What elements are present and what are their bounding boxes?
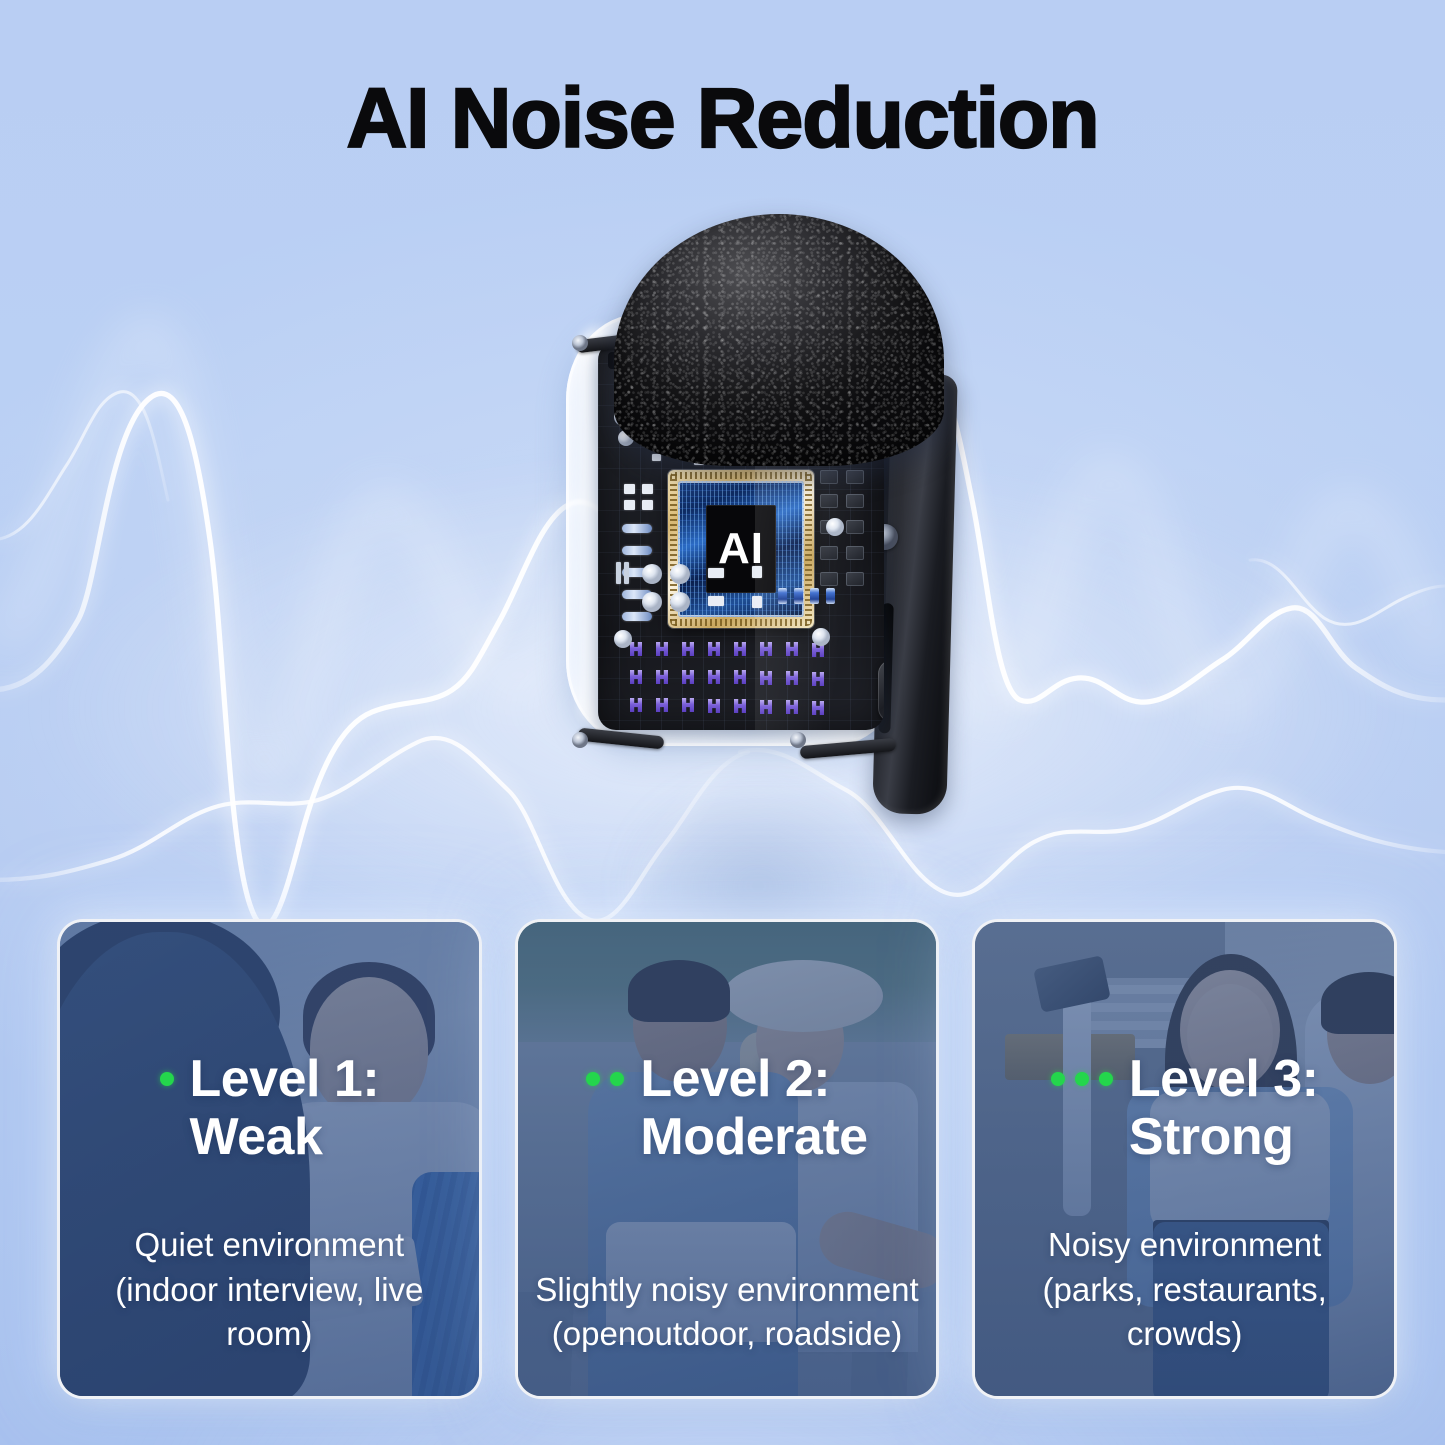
level-card-2[interactable]: Level 2: Moderate Slightly noisy environ… (515, 919, 940, 1399)
caption-line1: Noisy environment (1048, 1226, 1321, 1263)
level-card-caption-3: Noisy environment (parks, restaurants, c… (975, 1223, 1394, 1396)
level-indicator-dots-2 (586, 1050, 624, 1086)
noise-level-cards: Level 1: Weak Quiet environment (indoor … (57, 919, 1397, 1399)
caption-line2: (parks, restaurants, crowds) (989, 1268, 1380, 1356)
level-card-1[interactable]: Level 1: Weak Quiet environment (indoor … (57, 919, 482, 1399)
level-indicator-dots-3 (1051, 1050, 1113, 1086)
level-title-line2: Weak (190, 1108, 323, 1166)
microphone-product-image: AI (528, 176, 1014, 944)
level-card-title-1: Level 1: Weak (190, 1050, 380, 1166)
level-title-line1: Level 3: (1129, 1050, 1319, 1108)
level-card-3[interactable]: Level 3: Strong Noisy environment (parks… (972, 919, 1397, 1399)
caption-line2: (indoor interview, live room) (74, 1268, 465, 1356)
caption-line1: Slightly noisy environment (535, 1271, 918, 1308)
caption-line2: (openoutdoor, roadside) (532, 1312, 923, 1356)
caption-line1: Quiet environment (135, 1226, 405, 1263)
page-title: AI Noise Reduction (0, 76, 1445, 160)
standoff-cap-bottom-right (790, 732, 806, 748)
level-title-line1: Level 1: (190, 1050, 380, 1108)
standoff-cap-bottom-left (572, 732, 588, 748)
level-card-title-3: Level 3: Strong (1129, 1050, 1319, 1166)
level-title-line2: Moderate (640, 1108, 867, 1166)
level-card-caption-2: Slightly noisy environment (openoutdoor,… (518, 1268, 937, 1396)
level-title-line1: Level 2: (640, 1050, 830, 1108)
foam-texture (614, 214, 944, 466)
level-title-line2: Strong (1129, 1108, 1294, 1166)
foam-windscreen (614, 214, 944, 466)
level-indicator-dots-1 (160, 1050, 174, 1086)
standoff-cap-top-left (572, 335, 588, 351)
level-card-caption-1: Quiet environment (indoor interview, liv… (60, 1223, 479, 1396)
level-card-title-2: Level 2: Moderate (640, 1050, 867, 1166)
product-feature-banner: AI Noise Reduction (0, 0, 1445, 1445)
